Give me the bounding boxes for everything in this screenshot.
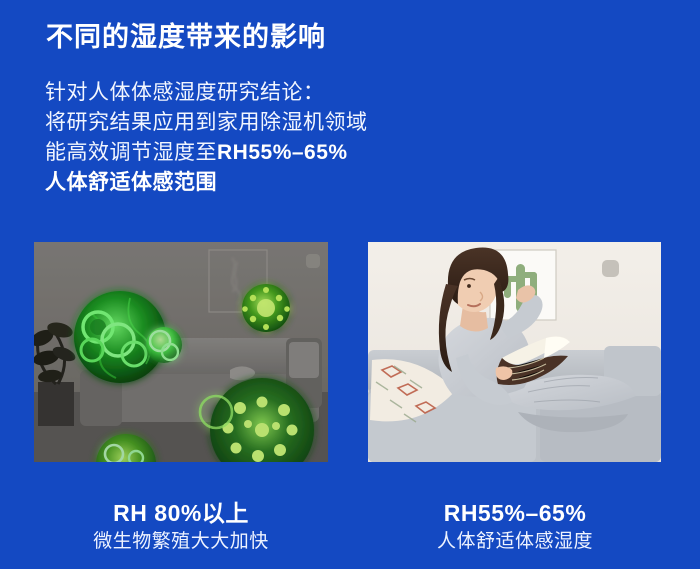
caption-left-heading: RH 80%以上 xyxy=(34,498,328,528)
caption-right-sub: 人体舒适体感湿度 xyxy=(368,528,662,556)
page-title: 不同的湿度带来的影响 xyxy=(46,20,326,54)
caption-left-sub: 微生物繁殖大大加快 xyxy=(34,528,328,556)
caption-comfort-humidity: RH55%–65% 人体舒适体感湿度 xyxy=(368,498,662,556)
intro-line-3-prefix: 能高效调节湿度至 xyxy=(45,141,217,164)
photo-high-humidity xyxy=(34,242,328,462)
caption-right-heading: RH55%–65% xyxy=(368,498,662,528)
intro-line-1: 针对人体体感湿度研究结论： xyxy=(45,78,465,108)
intro-line-3-humidity-range: RH55%–65% xyxy=(217,141,348,164)
intro-line-2: 将研究结果应用到家用除湿机领域 xyxy=(45,108,465,138)
intro-line-4: 人体舒适体感范围 xyxy=(45,168,465,198)
microbe-room-illustration xyxy=(34,242,328,462)
photo-comfort-humidity xyxy=(368,242,661,462)
promo-slide: 不同的湿度带来的影响 针对人体体感湿度研究结论： 将研究结果应用到家用除湿机领域… xyxy=(0,0,700,569)
caption-high-humidity: RH 80%以上 微生物繁殖大大加快 xyxy=(34,498,328,556)
woman-reading-illustration xyxy=(368,242,661,462)
intro-line-3: 能高效调节湿度至RH55%–65% xyxy=(45,138,465,168)
intro-text-block: 针对人体体感湿度研究结论： 将研究结果应用到家用除湿机领域 能高效调节湿度至RH… xyxy=(45,78,465,198)
